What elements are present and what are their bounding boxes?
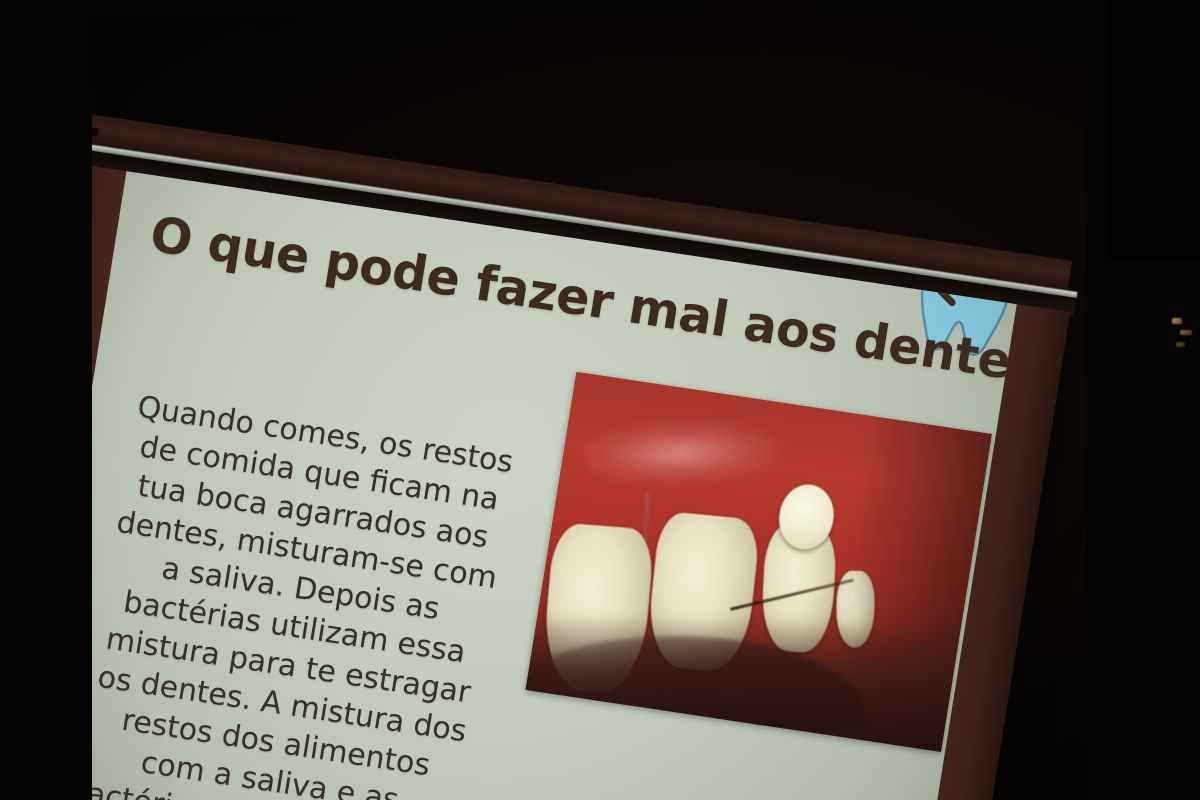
dark-foreground-top	[0, 0, 700, 16]
light-glint	[1180, 330, 1192, 335]
screenshot-root: O que pode fazer mal aos dentes? Quando …	[0, 0, 1200, 800]
photo-gum-highlight	[581, 393, 837, 500]
dark-foreground-right-upper	[1108, 0, 1200, 260]
light-glint	[1176, 342, 1185, 347]
projection-screen: O que pode fazer mal aos dentes? Quando …	[0, 0, 1087, 800]
photo-bottom-shadow	[526, 610, 992, 752]
dental-photo	[526, 372, 992, 752]
light-glint	[1172, 318, 1182, 324]
slide-body-text: Quando comes, os restos de comida que fi…	[41, 384, 542, 800]
dark-foreground-left	[0, 0, 92, 800]
